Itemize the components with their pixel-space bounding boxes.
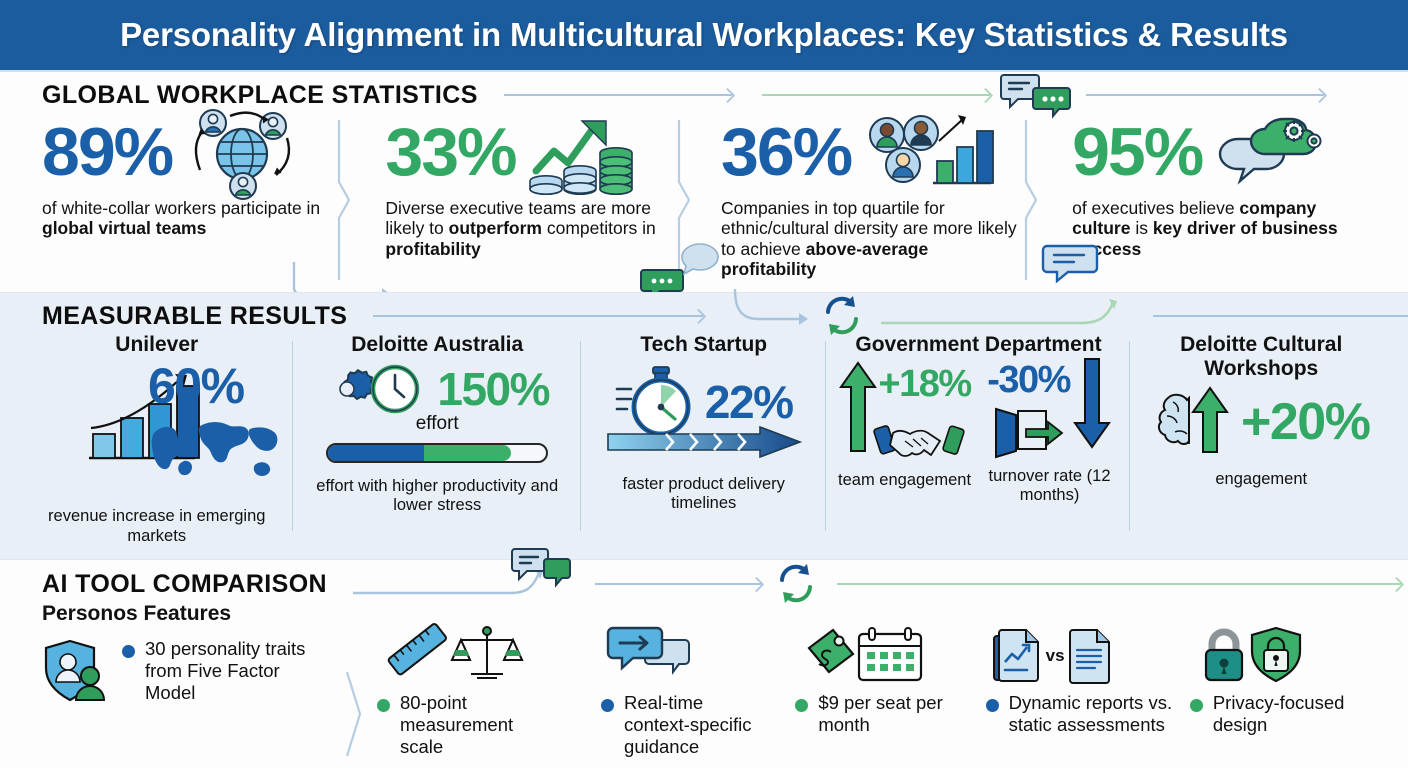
stat-card-33: 33% bbox=[359, 110, 699, 288]
stat-divider-chevron bbox=[335, 120, 355, 280]
result-value: +20% bbox=[1241, 396, 1369, 448]
connector-arrow-blue bbox=[504, 94, 732, 96]
infographic-page: Personality Alignment in Multicultural W… bbox=[0, 0, 1408, 768]
price-tag-calendar-icon bbox=[801, 626, 929, 684]
down-arrow-icon bbox=[1072, 357, 1112, 449]
bullet-dot bbox=[601, 699, 614, 712]
speech-bubble-pair-small-icon bbox=[511, 547, 573, 589]
lock-shield-icon bbox=[1196, 626, 1310, 684]
connector-arrow-blue-2 bbox=[1153, 315, 1408, 317]
ai-feature-text: $9 per seat per month bbox=[818, 692, 962, 736]
stat-desc-part2: is bbox=[1130, 218, 1152, 238]
up-arrow-icon bbox=[838, 361, 878, 453]
speech-bubble-blue-icon bbox=[1042, 244, 1100, 284]
connector-arrow-blue bbox=[373, 315, 703, 317]
stat-desc-bold: outperform bbox=[449, 218, 542, 238]
metric-value: -30% bbox=[987, 361, 1070, 399]
ai-feature-measurement-scale: 80-point measurement scale bbox=[377, 628, 601, 759]
metric-caption: turnover rate (12 months) bbox=[977, 467, 1123, 513]
section3-title: AI TOOL COMPARISON bbox=[42, 570, 327, 599]
ai-feature-realtime-guidance: Real-time context-specific guidance bbox=[601, 628, 795, 759]
bullet-dot bbox=[795, 699, 808, 712]
ruler-scales-icon bbox=[383, 622, 529, 684]
chat-arrow-bubbles-icon bbox=[607, 626, 703, 684]
brain-up-arrow-icon bbox=[1153, 386, 1245, 458]
result-value-label: effort bbox=[416, 413, 459, 435]
stat-value: 95% bbox=[1072, 118, 1202, 186]
result-caption: effort with higher productivity and lowe… bbox=[301, 477, 572, 523]
growth-chart-coins-icon bbox=[528, 109, 636, 195]
ai-feature-text: Dynamic reports vs. static assessments bbox=[1009, 692, 1173, 736]
bullet-dot bbox=[377, 699, 390, 712]
effort-progress-bar bbox=[326, 443, 548, 463]
stat-desc-part1: of executives believe bbox=[1072, 198, 1239, 218]
progress-segment-green bbox=[424, 445, 511, 461]
stat-desc-bold2: profitability bbox=[385, 239, 480, 259]
stat-divider-chevron bbox=[1022, 120, 1042, 280]
exit-door-icon bbox=[992, 407, 1068, 459]
refresh-cycle-icon-2 bbox=[775, 559, 817, 607]
diverse-team-bar-chart-icon bbox=[863, 109, 995, 195]
stat-card-89: 89% bbox=[42, 110, 359, 288]
result-value: 60% bbox=[148, 361, 244, 411]
stat-value: 33% bbox=[385, 118, 515, 186]
metric-turnover-rate: -30% bbox=[977, 357, 1123, 513]
result-card-deloitte-australia: Deloitte Australia 150% bbox=[293, 331, 580, 553]
ai-feature-text: 80-point measurement scale bbox=[400, 692, 560, 759]
page-header: Personality Alignment in Multicultural W… bbox=[0, 0, 1408, 72]
section2-header: MEASURABLE RESULTS bbox=[0, 293, 1408, 331]
progress-segment-blue bbox=[328, 445, 424, 461]
stat-value: 89% bbox=[42, 118, 172, 186]
gear-clock-icon bbox=[325, 363, 433, 415]
page-title: Personality Alignment in Multicultural W… bbox=[120, 16, 1288, 54]
world-map-icon bbox=[146, 415, 286, 485]
ai-feature-personality-traits: 30 personality traits from Five Factor M… bbox=[40, 628, 377, 759]
curved-arrow-icon bbox=[731, 287, 813, 333]
result-title: Unilever bbox=[115, 333, 198, 357]
documents-vs-icon: vs bbox=[992, 628, 1113, 684]
connector-arrow-green bbox=[762, 94, 990, 96]
speech-bubbles-gears-icon bbox=[1216, 111, 1328, 193]
bullet-dot bbox=[122, 645, 135, 658]
stat-desc-part1: of white-collar workers participate in bbox=[42, 198, 320, 218]
stat-description: Companies in top quartile for ethnic/cul… bbox=[721, 198, 1028, 280]
section-global-workplace-statistics: GLOBAL WORKPLACE STATISTICS bbox=[0, 72, 1408, 292]
section-ai-tool-comparison: AI TOOL COMPARISON bbox=[0, 560, 1408, 768]
shield-people-icon bbox=[40, 638, 112, 704]
section1-header: GLOBAL WORKPLACE STATISTICS bbox=[0, 72, 1408, 110]
vs-label: vs bbox=[1046, 646, 1065, 666]
section1-connector-arrows bbox=[494, 82, 1374, 108]
ai-feature-text: Real-time context-specific guidance bbox=[624, 692, 772, 759]
ai-feature-dynamic-reports: vs Dynamic reports vs. static assessment… bbox=[986, 628, 1190, 759]
bullet-dot bbox=[1190, 699, 1203, 712]
stat-description: of executives believe company culture is… bbox=[1072, 198, 1360, 259]
connector-arrow-blue-2 bbox=[595, 583, 761, 585]
ai-feature-text: Privacy-focused design bbox=[1213, 692, 1385, 736]
section3-connector-arrows bbox=[343, 571, 1374, 597]
ai-feature-privacy: Privacy-focused design bbox=[1190, 628, 1394, 759]
ai-feature-pricing: $9 per seat per month bbox=[795, 628, 985, 759]
result-card-unilever: Unilever 6 bbox=[20, 331, 293, 553]
speech-bubble-light-icon bbox=[680, 242, 720, 278]
result-title: Deloitte Australia bbox=[351, 333, 523, 357]
connector-arrow-blue-2 bbox=[1086, 94, 1324, 96]
result-title: Tech Startup bbox=[640, 333, 767, 357]
metric-value: +18% bbox=[878, 365, 970, 403]
stat-desc-part2: competitors in bbox=[542, 218, 656, 238]
metric-caption: team engagement bbox=[838, 471, 971, 497]
section-measurable-results: MEASURABLE RESULTS bbox=[0, 292, 1408, 560]
stat-description: Diverse executive teams are more likely … bbox=[385, 198, 681, 259]
speed-arrow-icon bbox=[606, 425, 802, 459]
result-card-government-department: Government Department +18% bbox=[826, 331, 1130, 553]
connector-arrow-green bbox=[837, 583, 1401, 585]
connector-arrow-green-curved bbox=[879, 297, 1125, 331]
result-title: Government Department bbox=[855, 333, 1101, 357]
result-caption: faster product delivery timelines bbox=[589, 475, 819, 521]
result-value: 22% bbox=[705, 379, 793, 425]
result-title: Deloitte Cultural Workshops bbox=[1138, 333, 1384, 380]
bullet-dot bbox=[986, 699, 999, 712]
globe-people-icon bbox=[188, 106, 296, 198]
result-card-deloitte-cultural-workshops: Deloitte Cultural Workshops +20% engagem… bbox=[1130, 331, 1392, 553]
stat-card-36: 36% bbox=[699, 110, 1046, 288]
result-card-tech-startup: Tech Startup bbox=[581, 331, 827, 553]
stat-desc-bold: global virtual teams bbox=[42, 218, 206, 238]
metric-team-engagement: +18% team engagement bbox=[834, 357, 974, 513]
section2-connector-arrows bbox=[363, 303, 1374, 329]
section3-header: AI TOOL COMPARISON bbox=[0, 560, 1408, 598]
ai-divider-chevron bbox=[343, 672, 363, 752]
stat-description: of white-collar workers participate in g… bbox=[42, 198, 341, 239]
result-value: 150% bbox=[437, 366, 549, 412]
stat-value: 36% bbox=[721, 118, 851, 186]
ai-subtitle: Personos Features bbox=[0, 598, 1408, 626]
ai-features-row: 30 personality traits from Five Factor M… bbox=[0, 626, 1408, 759]
result-caption: revenue increase in emerging markets bbox=[28, 507, 285, 553]
handshake-icon bbox=[875, 419, 963, 463]
section2-title: MEASURABLE RESULTS bbox=[42, 302, 347, 331]
results-row: Unilever 6 bbox=[0, 331, 1408, 553]
ai-feature-text: 30 personality traits from Five Factor M… bbox=[145, 638, 335, 705]
result-caption: engagement bbox=[1215, 470, 1307, 496]
